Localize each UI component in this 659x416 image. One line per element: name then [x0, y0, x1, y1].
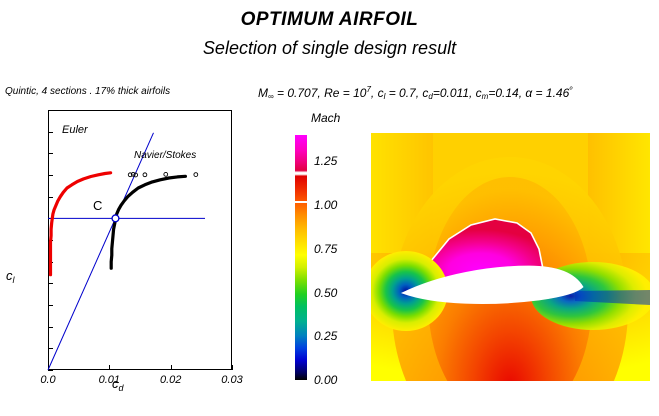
euler-polar-curve: [51, 173, 111, 275]
design-point-label: C: [93, 198, 102, 213]
cm-value: =0.14,: [488, 86, 525, 100]
colorbar-title: Mach: [311, 111, 340, 125]
navier-stokes-curve-label: Navier/Stokes: [134, 150, 196, 161]
flow-parameters-line: M∞ = 0.707, Re = 107, cl = 0.7, cd=0.011…: [258, 85, 572, 101]
alpha-value: = 1.46: [532, 86, 569, 100]
reynolds-symbol: Re = 10: [324, 86, 366, 100]
page-title: OPTIMUM AIRFOIL: [0, 9, 659, 31]
polar-caption: Quintic, 4 sections . 17% thick airfoils: [5, 86, 170, 97]
euler-curve-label: Euler: [62, 124, 88, 136]
reynolds-tail: ,: [371, 86, 378, 100]
cd-value: =0.011,: [433, 86, 476, 100]
mach-value: = 0.707,: [274, 86, 324, 100]
polar-data-layer: [0, 100, 250, 400]
colorbar-tick-label: 1.00: [314, 198, 337, 212]
scatter-point: [194, 173, 198, 177]
colorbar-tick-label: 0.00: [314, 373, 337, 387]
drag-polar-chart: 0.00.10.20.30.40.50.60.70.80.91.01.11.2 …: [0, 100, 250, 400]
mach-colorbar: Mach 1.251.000.750.500.250.00: [295, 105, 370, 390]
colorbar-sonic-separator: [295, 201, 307, 203]
design-point-marker: [112, 215, 119, 222]
page-subtitle: Selection of single design result: [0, 38, 659, 59]
colorbar-tick-label: 0.75: [314, 242, 337, 256]
colorbar-gradient: [295, 135, 307, 380]
scatter-point: [164, 172, 168, 176]
cl-value: = 0.7,: [385, 86, 422, 100]
mach-contour-canvas: [371, 133, 650, 381]
colorbar-tick-label: 0.50: [314, 286, 337, 300]
navier-stokes-polar-curve: [111, 176, 185, 268]
max-lift-to-drag-ray: [48, 133, 153, 370]
colorbar-tick-label: 1.25: [314, 154, 337, 168]
alpha-unit: º: [569, 85, 572, 94]
scatter-point: [143, 173, 147, 177]
mach-symbol: M: [258, 86, 268, 100]
colorbar-tick-label: 0.25: [314, 329, 337, 343]
mach-contour-plot: [371, 133, 650, 381]
